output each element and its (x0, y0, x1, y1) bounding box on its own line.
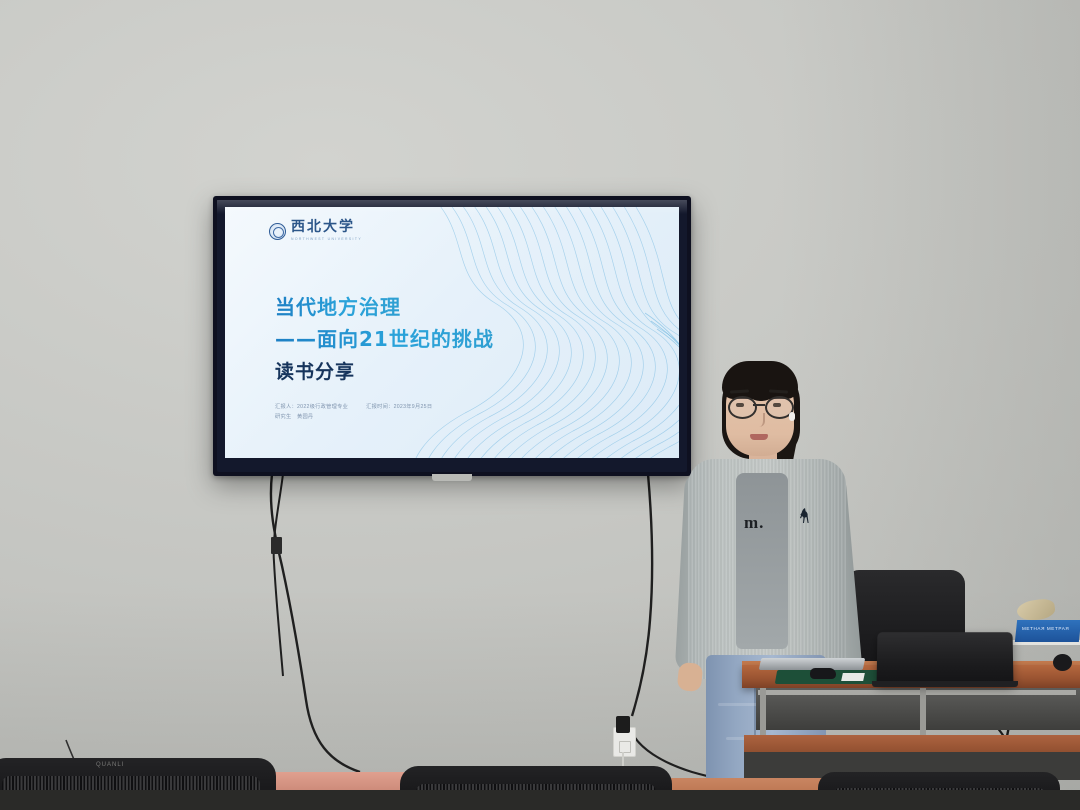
hand-left (677, 662, 704, 692)
slide-date: 汇报时间：2023年9月25日 (366, 403, 432, 413)
slide-presenter-value: 2022级行政管理专业 (297, 404, 348, 410)
slide-title-line-2: ——面向21世纪的挑战 (275, 323, 494, 352)
slide-date-label: 汇报时间： (366, 404, 393, 410)
desk-paper-sheet (841, 673, 865, 681)
slide-presenter: 汇报人：2022级行政管理专业 (275, 403, 348, 413)
slide-meta-block: 汇报人：2022级行政管理专业 汇报时间：2023年9月25日 研究生 黄园丹 (275, 403, 575, 423)
chair-brand-label: QUANLI (96, 762, 124, 768)
wall-mounted-television[interactable]: 西北大学 NORTHWEST UNIVERSITY 当代地方治理 ——面向21世… (213, 196, 691, 476)
slide-date-value: 2023年9月25日 (394, 404, 433, 410)
university-seal-icon (269, 223, 286, 240)
university-logo: 西北大学 NORTHWEST UNIVERSITY (269, 221, 362, 241)
wireless-earbud (789, 412, 795, 421)
slide-subtitle: 读书分享 (275, 357, 355, 384)
laptop-base[interactable] (872, 681, 1018, 687)
glasses-bridge (753, 404, 765, 406)
mouth (750, 434, 768, 440)
blue-box-label: МЕТНАЯ МЕТРАЯ (1022, 626, 1080, 631)
outlet-plug-icon (616, 716, 630, 733)
desk-metal-rail (758, 690, 1076, 695)
university-name-en: NORTHWEST UNIVERSITY (291, 237, 362, 241)
computer-mouse[interactable] (810, 668, 836, 679)
classroom-presentation-photo: 西北大学 NORTHWEST UNIVERSITY 当代地方治理 ——面向21世… (0, 0, 1080, 810)
slide-meta-line-2: 研究生 黄园丹 (275, 413, 575, 423)
blue-cardboard-box (1015, 620, 1080, 642)
cable-connector-box (271, 537, 282, 554)
t-shirt-graphic-top: m. (744, 513, 764, 533)
desk-leg (920, 688, 926, 738)
university-name-cn: 西北大学 (291, 221, 362, 235)
polo-pony-icon-top (798, 507, 810, 524)
floor-strip (0, 790, 1080, 810)
slide-title-line-1: 当代地方治理 (275, 291, 401, 320)
laptop-screen-lid[interactable] (877, 632, 1014, 684)
desk-leg (760, 688, 766, 738)
t-shirt-visible-panel (736, 473, 788, 649)
glasses-lens-left (728, 396, 757, 419)
presentation-slide: 西北大学 NORTHWEST UNIVERSITY 当代地方治理 ——面向21世… (225, 207, 679, 458)
chair-armrest-knob (1053, 654, 1072, 671)
slide-presenter-label: 汇报人： (275, 404, 297, 410)
tv-stand (432, 474, 472, 481)
